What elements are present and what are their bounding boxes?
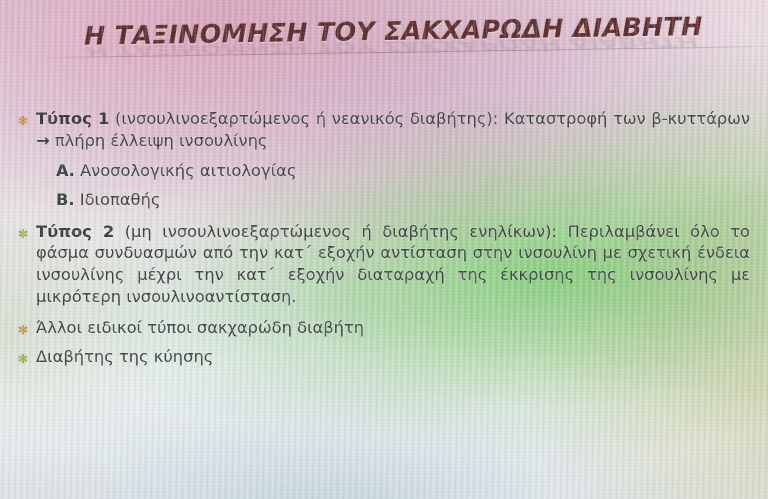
list-item[interactable]: ✻ Άλλοι ειδικοί τύποι σακχαρώδη διαβήτη bbox=[0, 317, 768, 339]
list-item[interactable]: ✻ Διαβήτης της κύησης bbox=[0, 346, 768, 368]
sub-list-item-a-label: Α. bbox=[56, 161, 75, 180]
presentation-slide: Η ΤΑΞΙΝΟΜΗΣΗ ΤΟΥ ΣΑΚΧΑΡΩΔΗ ΔΙΑΒΗΤΗ Η ΤΑΞ… bbox=[0, 0, 768, 499]
slide-body: ✻ Τύπος 1 (ινσουλινοεξαρτώμενος ή νεανικ… bbox=[0, 108, 768, 368]
slide-content: Η ΤΑΞΙΝΟΜΗΣΗ ΤΟΥ ΣΑΚΧΑΡΩΔΗ ΔΙΑΒΗΤΗ Η ΤΑΞ… bbox=[0, 0, 768, 499]
list-item-lead: Τύπος 2 bbox=[36, 222, 114, 241]
list-item-body: (ινσουλινοεξαρτώμενος ή νεανικός διαβήτη… bbox=[109, 109, 750, 128]
bullet-star-icon: ✻ bbox=[10, 108, 36, 127]
sub-list-item-a-text: Ανοσολογικής αιτιολογίας bbox=[75, 161, 297, 180]
arrow-icon: → bbox=[36, 131, 50, 150]
slide-title-block: Η ΤΑΞΙΝΟΜΗΣΗ ΤΟΥ ΣΑΚΧΑΡΩΔΗ ΔΙΑΒΗΤΗ Η ΤΑΞ… bbox=[0, 2, 768, 66]
page-title: Η ΤΑΞΙΝΟΜΗΣΗ ΤΟΥ ΣΑΚΧΑΡΩΔΗ ΔΙΑΒΗΤΗ bbox=[84, 12, 703, 52]
sub-list-item-b-text: Ιδιοπαθής bbox=[75, 190, 161, 209]
list-item-text: Τύπος 2 (μη ινσουλινοεξαρτώμενος ή διαβή… bbox=[36, 221, 750, 308]
list-item-text: Τύπος 1 (ινσουλινοεξαρτώμενος ή νεανικός… bbox=[36, 108, 750, 151]
list-item-body: (μη ινσουλινοεξαρτώμενος ή διαβήτης ενηλ… bbox=[36, 222, 750, 306]
list-item-text: Διαβήτης της κύησης bbox=[36, 346, 750, 368]
list-item-body-tail: πλήρη έλλειψη ινσουλίνης bbox=[50, 131, 268, 150]
list-item[interactable]: ✻ Τύπος 1 (ινσουλινοεξαρτώμενος ή νεανικ… bbox=[0, 108, 768, 151]
list-item[interactable]: ✻ Τύπος 2 (μη ινσουλινοεξαρτώμενος ή δια… bbox=[0, 221, 768, 308]
sub-list-item-b: Β. Ιδιοπαθής bbox=[0, 189, 768, 211]
bullet-star-icon: ✻ bbox=[10, 317, 36, 336]
sub-list-item-b-label: Β. bbox=[56, 190, 75, 209]
sub-list-item-a: Α. Ανοσολογικής αιτιολογίας bbox=[0, 160, 768, 182]
list-item-lead: Τύπος 1 bbox=[36, 109, 109, 128]
bullet-star-icon: ✻ bbox=[10, 221, 36, 240]
list-item-text: Άλλοι ειδικοί τύποι σακχαρώδη διαβήτη bbox=[36, 317, 750, 339]
bullet-star-icon: ✻ bbox=[10, 346, 36, 365]
